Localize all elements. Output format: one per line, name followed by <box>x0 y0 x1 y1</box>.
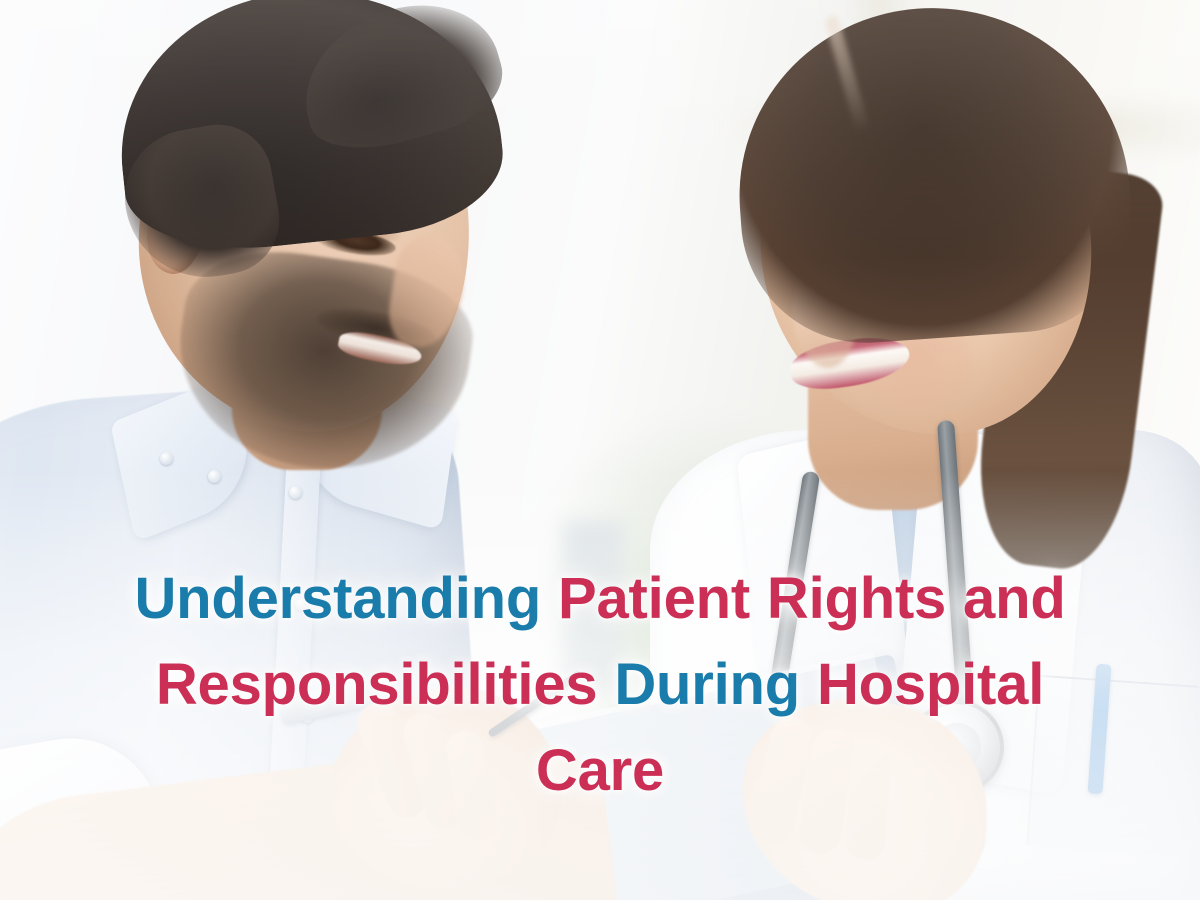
hero-banner: Understanding Patient Rights and Respons… <box>0 0 1200 900</box>
collar-button <box>160 452 173 465</box>
shirt-button <box>289 486 302 499</box>
collar-button <box>208 470 221 483</box>
doctor-coat-pocket <box>1026 675 1200 858</box>
shirt-button <box>295 598 308 611</box>
doctor-finger <box>844 743 892 862</box>
background-photo <box>0 0 1200 900</box>
doctor-hair <box>727 0 1139 351</box>
